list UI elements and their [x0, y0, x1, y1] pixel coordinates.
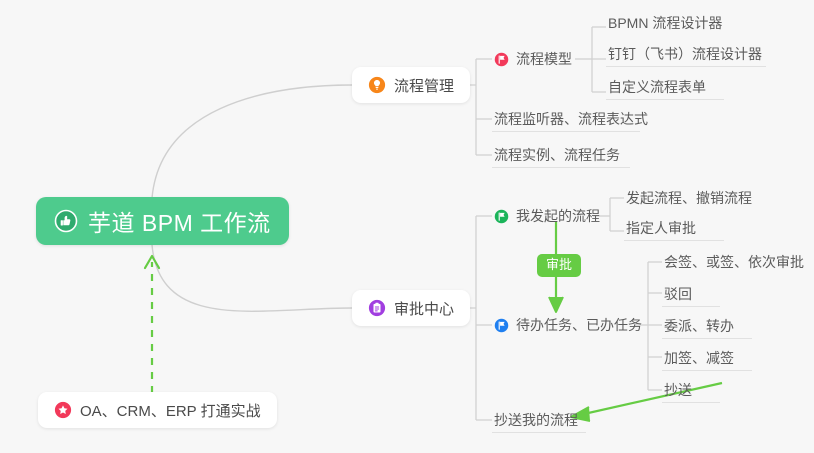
flag-icon — [494, 318, 509, 333]
node-label-bpmn-designer: BPMN 流程设计器 — [608, 13, 722, 33]
flag-icon — [494, 52, 509, 67]
dashed-green-arrow — [145, 256, 159, 393]
node-cc[interactable]: 抄送 — [662, 377, 720, 403]
annotation-approval-label: 审批 — [546, 257, 572, 272]
root-node[interactable]: 芋道 BPM 工作流 — [36, 197, 289, 245]
annotation-approval-badge: 审批 — [537, 254, 581, 277]
node-cc-to-me-process[interactable]: 抄送我的流程 — [492, 407, 586, 433]
thumbs-up-icon — [54, 209, 78, 233]
root-label: 芋道 BPM 工作流 — [88, 204, 271, 238]
node-label-oa-crm-erp: OA、CRM、ERP 打通实战 — [80, 400, 261, 421]
node-label-process-listener-expression: 流程监听器、流程表达式 — [494, 109, 648, 129]
node-dingtalk-feishu-designer[interactable]: 钉钉（飞书）流程设计器 — [606, 41, 766, 67]
flag-icon — [494, 209, 509, 224]
branch-node-process-management[interactable]: 流程管理 — [352, 67, 470, 103]
branch-label-approval-center: 审批中心 — [394, 298, 454, 319]
node-add-remove-sign[interactable]: 加签、减签 — [662, 345, 752, 371]
node-label-add-remove-sign: 加签、减签 — [664, 348, 734, 368]
node-label-countersign-or-sequential: 会签、或签、依次审批 — [664, 252, 804, 272]
node-process-instance-task[interactable]: 流程实例、流程任务 — [492, 142, 630, 168]
node-label-process-model: 流程模型 — [516, 49, 572, 69]
node-my-initiated-process[interactable]: 我发起的流程 — [492, 203, 606, 229]
clipboard-icon — [368, 299, 386, 317]
node-start-cancel-process[interactable]: 发起流程、撤销流程 — [624, 185, 759, 211]
node-label-assignee-approval: 指定人审批 — [626, 218, 696, 238]
node-label-todo-done-tasks: 待办任务、已办任务 — [516, 315, 642, 335]
node-label-custom-process-form: 自定义流程表单 — [608, 77, 706, 97]
node-label-dingtalk-feishu-designer: 钉钉（飞书）流程设计器 — [608, 44, 762, 64]
node-process-listener-expression[interactable]: 流程监听器、流程表达式 — [492, 106, 640, 132]
node-label-start-cancel-process: 发起流程、撤销流程 — [626, 188, 752, 208]
node-bpmn-designer[interactable]: BPMN 流程设计器 — [606, 10, 724, 36]
node-custom-process-form[interactable]: 自定义流程表单 — [606, 74, 724, 100]
node-label-delegate-transfer: 委派、转办 — [664, 316, 734, 336]
lightbulb-icon — [368, 76, 386, 94]
branch-node-approval-center[interactable]: 审批中心 — [352, 290, 470, 326]
node-reject[interactable]: 驳回 — [662, 281, 720, 307]
node-label-reject: 驳回 — [664, 284, 692, 304]
node-countersign-or-sequential[interactable]: 会签、或签、依次审批 — [662, 249, 802, 275]
node-label-process-instance-task: 流程实例、流程任务 — [494, 145, 620, 165]
node-assignee-approval[interactable]: 指定人审批 — [624, 215, 724, 241]
node-label-cc: 抄送 — [664, 380, 692, 400]
star-icon — [54, 401, 72, 419]
node-label-my-initiated-process: 我发起的流程 — [516, 206, 600, 226]
node-process-model[interactable]: 流程模型 — [492, 46, 578, 72]
mindmap-canvas: 芋道 BPM 工作流 流程管理 流程模型 BPMN 流程设计器 钉钉（飞书）流程… — [0, 0, 814, 453]
node-delegate-transfer[interactable]: 委派、转办 — [662, 313, 752, 339]
node-oa-crm-erp[interactable]: OA、CRM、ERP 打通实战 — [38, 392, 277, 428]
branch-label-process-management: 流程管理 — [394, 75, 454, 96]
node-label-cc-to-me-process: 抄送我的流程 — [494, 410, 578, 430]
node-todo-done-tasks[interactable]: 待办任务、已办任务 — [492, 312, 648, 338]
